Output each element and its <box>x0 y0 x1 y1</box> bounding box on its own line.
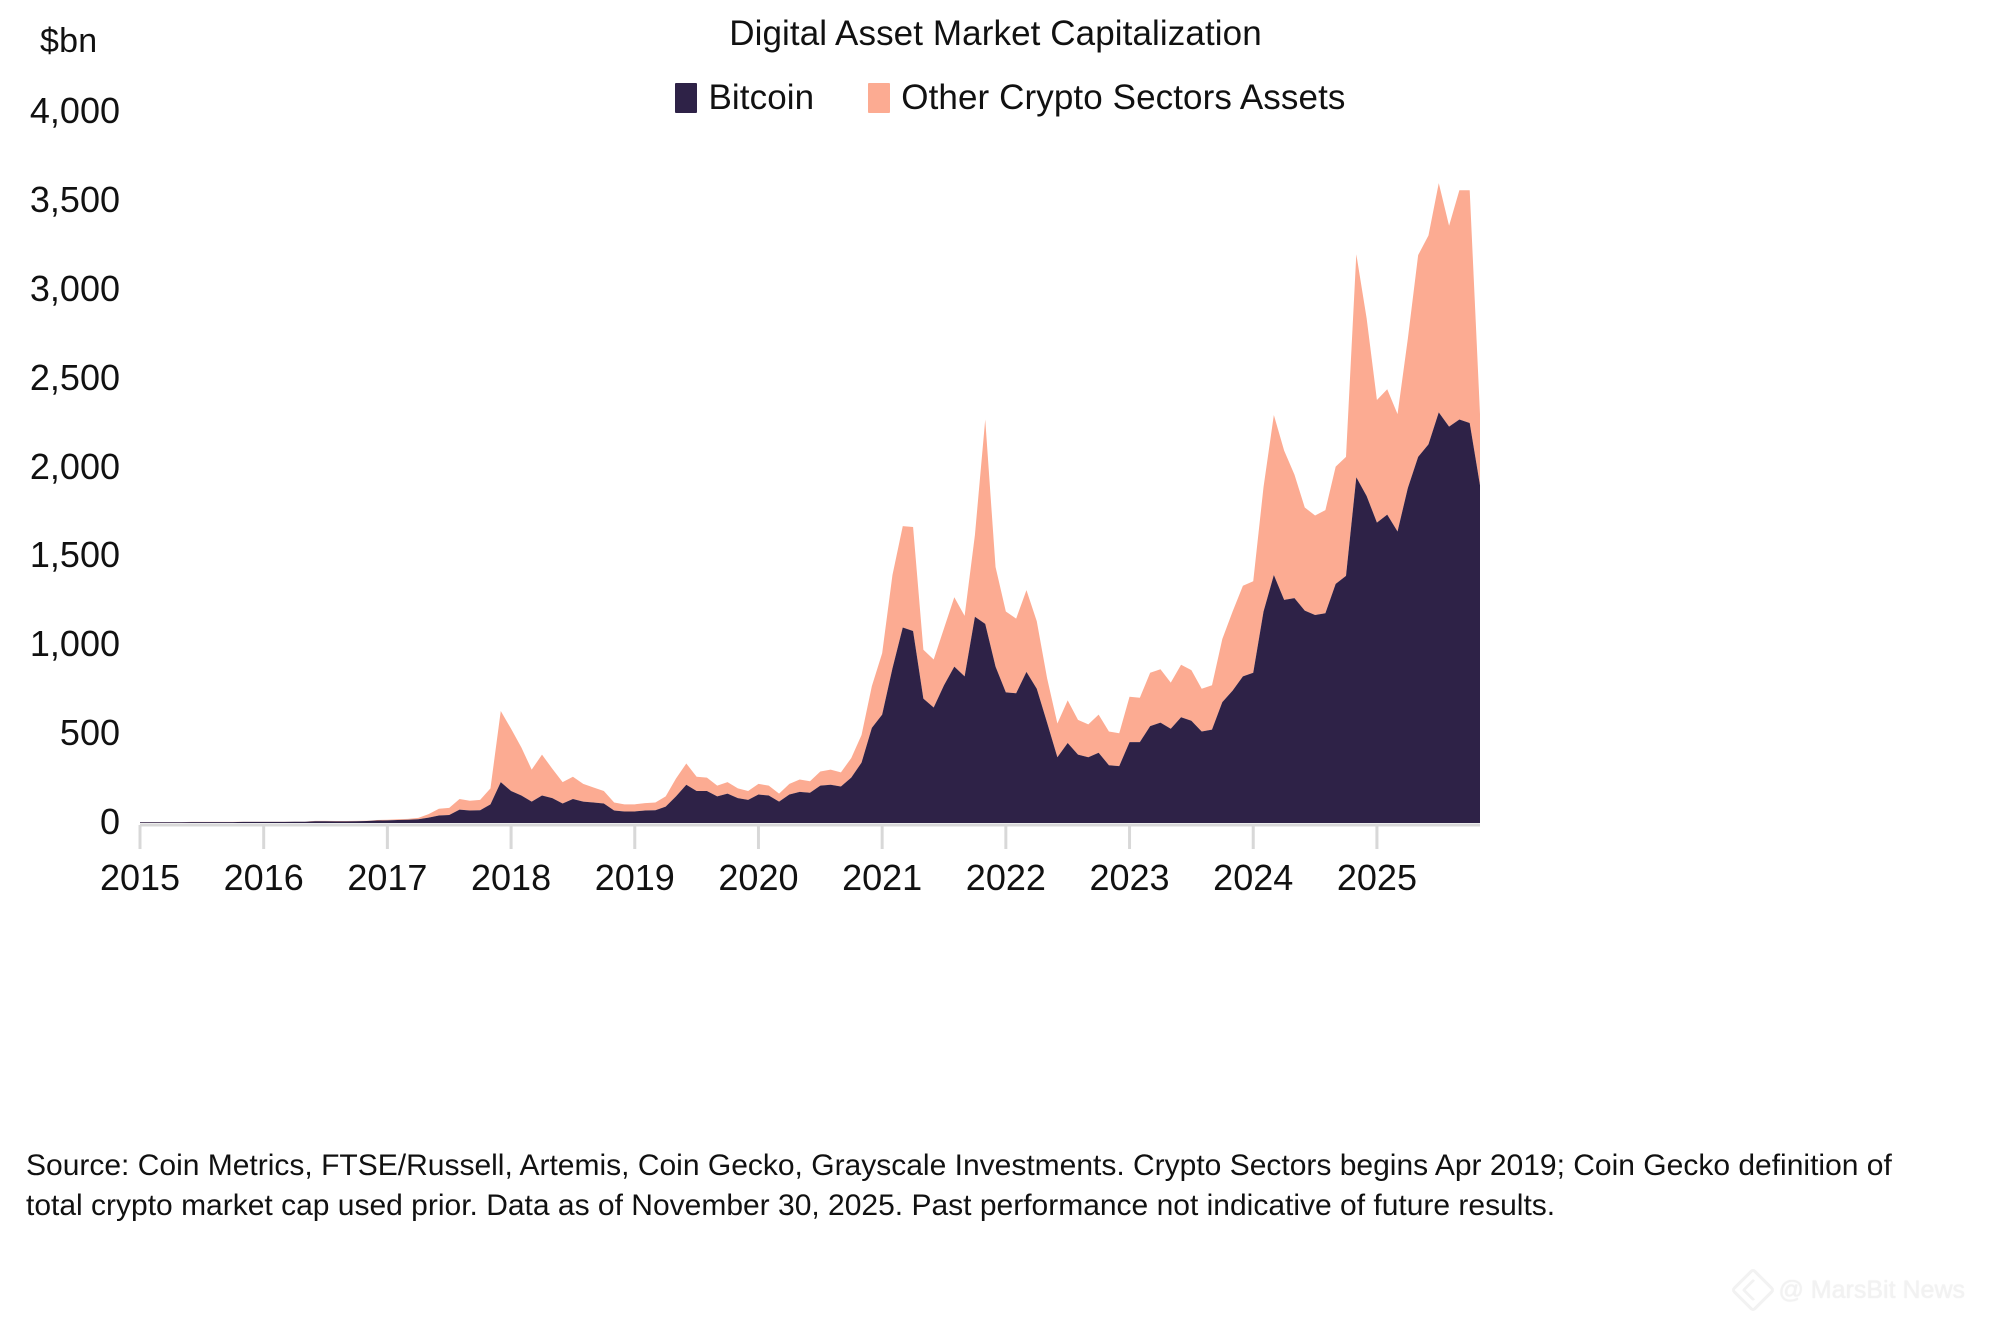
source-line-1: Source: Coin Metrics, FTSE/Russell, Arte… <box>26 1149 1428 1182</box>
y-axis-tick-label: 1,500 <box>0 534 120 576</box>
y-axis-tick-label: 2,000 <box>0 446 120 488</box>
y-axis-tick-label: 1,000 <box>0 623 120 665</box>
y-axis-tick-label: 3,000 <box>0 268 120 310</box>
y-axis-tick-label: 2,500 <box>0 357 120 399</box>
x-axis-tick-label: 2025 <box>1297 857 1457 899</box>
source-note: Source: Coin Metrics, FTSE/Russell, Arte… <box>26 1146 1956 1226</box>
watermark: @ MarsBit News <box>1737 1274 1965 1306</box>
series-layer <box>140 183 1480 823</box>
area-chart-svg <box>0 0 1991 1320</box>
watermark-label: @ MarsBit News <box>1778 1276 1965 1305</box>
source-line-3: performance not indicative of future res… <box>980 1189 1555 1222</box>
chart-root: $bn Digital Asset Market Capitalization … <box>0 0 1991 1320</box>
diamond-logo-icon <box>1731 1267 1776 1312</box>
axis-layer <box>140 825 1480 849</box>
y-axis-tick-label: 500 <box>0 712 120 754</box>
plot-area: 4,0003,5003,0002,5002,0001,5001,0005000 … <box>0 0 1991 1320</box>
y-axis-tick-label: 0 <box>0 801 120 843</box>
y-axis-tick-label: 4,000 <box>0 90 120 132</box>
y-axis-tick-label: 3,500 <box>0 179 120 221</box>
